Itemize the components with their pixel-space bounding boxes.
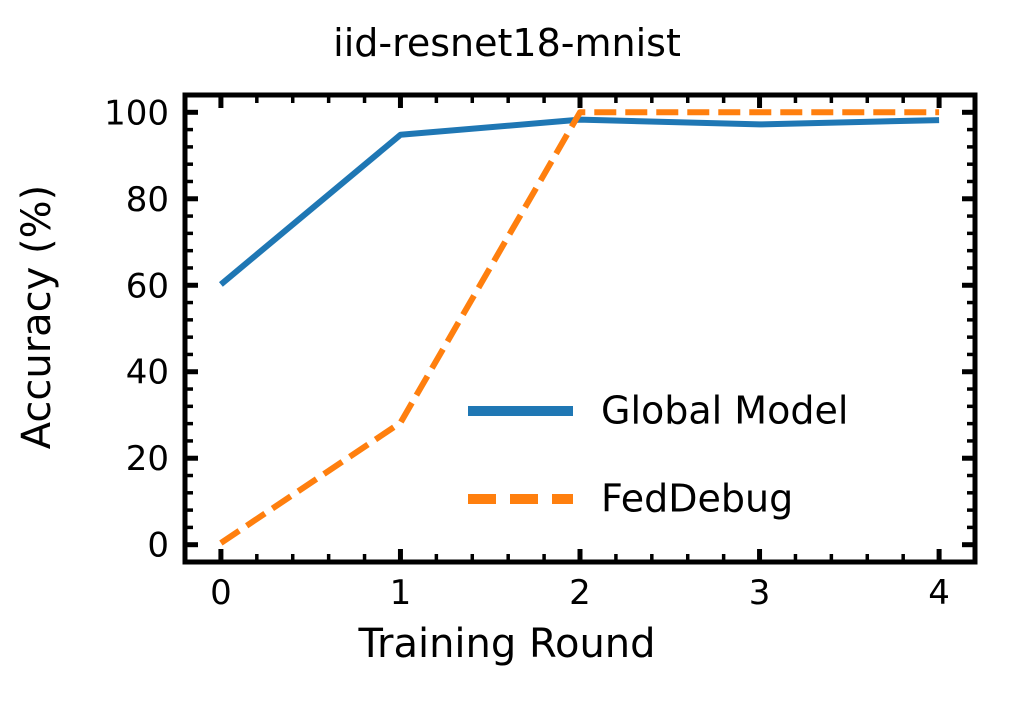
y-tick-label: 20 [126, 439, 169, 479]
x-tick-labels: 01234 [210, 573, 950, 613]
x-tick-label: 0 [210, 573, 232, 613]
axes-background [185, 95, 975, 562]
x-tick-label: 2 [569, 573, 591, 613]
y-tick-label: 60 [126, 266, 169, 306]
y-tick-labels: 020406080100 [104, 93, 169, 565]
x-tick-label: 3 [749, 573, 771, 613]
y-tick-label: 100 [104, 93, 169, 133]
y-tick-label: 0 [147, 526, 169, 566]
y-tick-label: 40 [126, 353, 169, 393]
figure-canvas: iid-resnet18-mnist Accuracy (%) Training… [0, 0, 1014, 713]
legend-label-feddebug: FedDebug [601, 477, 793, 521]
x-tick-label: 1 [390, 573, 412, 613]
y-tick-label: 80 [126, 180, 169, 220]
x-tick-label: 4 [928, 573, 950, 613]
plot-area: 020406080100 01234 Global ModelFedDebug [0, 0, 1014, 713]
legend-label-global-model: Global Model [601, 389, 848, 433]
